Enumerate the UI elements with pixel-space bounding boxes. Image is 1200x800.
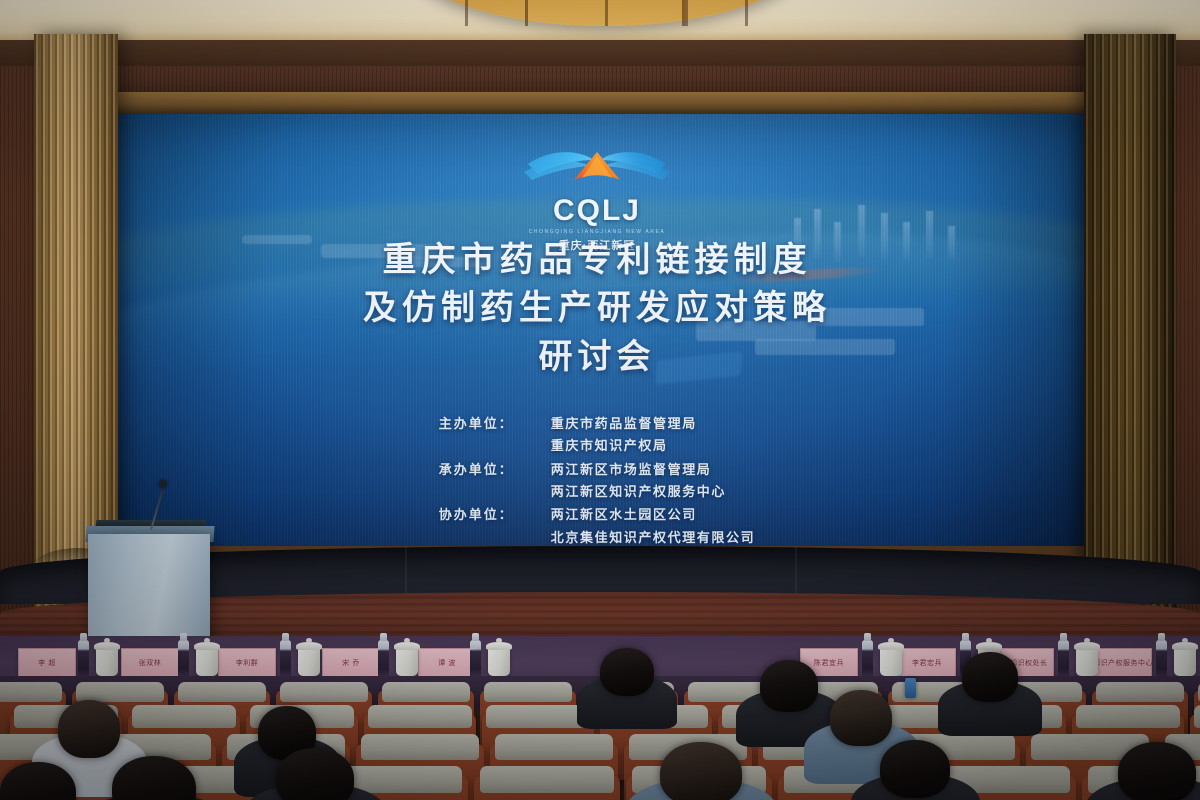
organizer-value: 两江新区市场监督管理局 xyxy=(551,460,726,482)
title-line-3: 研讨会 xyxy=(104,333,1090,381)
water-bottle xyxy=(470,640,481,680)
title-line-1: 重庆市药品专利链接制度 xyxy=(104,236,1090,284)
organizer-label: 主办单位： xyxy=(439,414,551,436)
audience-person-head xyxy=(276,748,354,800)
tea-cup xyxy=(396,648,418,676)
placard-name-text: 李 超 xyxy=(38,658,56,668)
placard-name-text: 张双林 xyxy=(139,658,162,668)
organizer-row: 承办单位：两江新区市场监督管理局两江新区知识产权服务中心 xyxy=(439,460,755,505)
audience-person-head xyxy=(58,700,120,758)
organizer-value: 重庆市药品监督管理局 xyxy=(551,414,697,436)
placard-name-text: 陈君宜兵 xyxy=(814,658,844,668)
tea-cup xyxy=(96,648,118,676)
placard-name-text: 谭 波 xyxy=(438,658,456,668)
placard-name-text: 知识产权服务中心 xyxy=(1093,658,1153,668)
organizer-values: 两江新区市场监督管理局两江新区知识产权服务中心 xyxy=(551,460,726,505)
slide-title: 重庆市药品专利链接制度 及仿制药生产研发应对策略 研讨会 xyxy=(104,236,1090,381)
tea-cup xyxy=(1076,648,1098,676)
water-bottle xyxy=(78,640,89,680)
organizer-values: 两江新区水土园区公司北京集佳知识产权代理有限公司 xyxy=(551,505,755,546)
placard-name-text: 李君宏兵 xyxy=(912,658,942,668)
water-bottle xyxy=(378,640,389,680)
screen-valance xyxy=(92,92,1102,114)
name-placard: 张双林 xyxy=(121,648,179,678)
tea-cup xyxy=(880,648,902,676)
name-placard: 李 超 xyxy=(18,648,76,678)
audience-person-head xyxy=(962,652,1018,702)
organizer-value: 北京集佳知识产权代理有限公司 xyxy=(551,528,755,546)
ceiling-soffit xyxy=(0,0,1200,42)
organizer-values: 重庆市药品监督管理局重庆市知识产权局 xyxy=(551,414,697,459)
organizer-label: 协办单位： xyxy=(439,505,551,527)
audience-person-head xyxy=(880,740,950,798)
name-placard: 李利群 xyxy=(218,648,276,678)
tea-cup xyxy=(298,648,320,676)
organizer-value: 两江新区水土园区公司 xyxy=(551,505,755,527)
name-placard: 知识产权服务中心 xyxy=(1094,648,1152,678)
placard-name-text: 李利群 xyxy=(236,658,259,668)
stage-curtain-right xyxy=(1084,34,1176,646)
name-placard: 谭 波 xyxy=(418,648,476,678)
tea-cup xyxy=(488,648,510,676)
logo-pinyin: CHONGQING LIANGJIANG NEW AREA xyxy=(104,229,1090,235)
water-bottle xyxy=(862,640,873,680)
water-bottle xyxy=(1156,640,1167,680)
presentation-slide: CQLJ CHONGQING LIANGJIANG NEW AREA 重庆·两江… xyxy=(104,114,1090,546)
title-line-2: 及仿制药生产研发应对策略 xyxy=(104,284,1090,332)
tea-cup xyxy=(1174,648,1196,676)
audience-person-head xyxy=(1118,742,1196,800)
ceiling-lamp-icon xyxy=(405,0,805,26)
water-bottle xyxy=(280,640,291,680)
placard-name-text: 宋 乔 xyxy=(342,658,360,668)
led-screen: CQLJ CHONGQING LIANGJIANG NEW AREA 重庆·两江… xyxy=(104,114,1090,546)
smartphone-icon xyxy=(905,678,916,698)
audience-person-head xyxy=(660,742,742,800)
organizer-label: 承办单位： xyxy=(439,460,551,482)
organizer-list: 主办单位：重庆市药品监督管理局重庆市知识产权局承办单位：两江新区市场监督管理局两… xyxy=(104,414,1090,546)
ceiling-shadow-band xyxy=(0,40,1200,66)
name-placard: 李君宏兵 xyxy=(898,648,956,678)
name-placard: 宋 乔 xyxy=(322,648,380,678)
logo-wordmark: CQLJ xyxy=(104,196,1090,226)
organizer-value: 两江新区知识产权服务中心 xyxy=(551,482,726,504)
audience-person-head xyxy=(600,648,654,696)
audience-seat xyxy=(474,776,620,800)
organizer-value: 重庆市知识产权局 xyxy=(551,436,697,458)
audience-person-head xyxy=(760,660,818,712)
audience-person-head xyxy=(830,690,892,746)
water-bottle xyxy=(178,640,189,680)
water-bottle xyxy=(1058,640,1069,680)
organizer-row: 协办单位：两江新区水土园区公司北京集佳知识产权代理有限公司 xyxy=(439,505,755,546)
tea-cup xyxy=(196,648,218,676)
conference-hall-photo: CQLJ CHONGQING LIANGJIANG NEW AREA 重庆·两江… xyxy=(0,0,1200,800)
organizer-row: 主办单位：重庆市药品监督管理局重庆市知识产权局 xyxy=(439,414,755,459)
cqlj-bird-mountain-logo xyxy=(522,144,672,200)
